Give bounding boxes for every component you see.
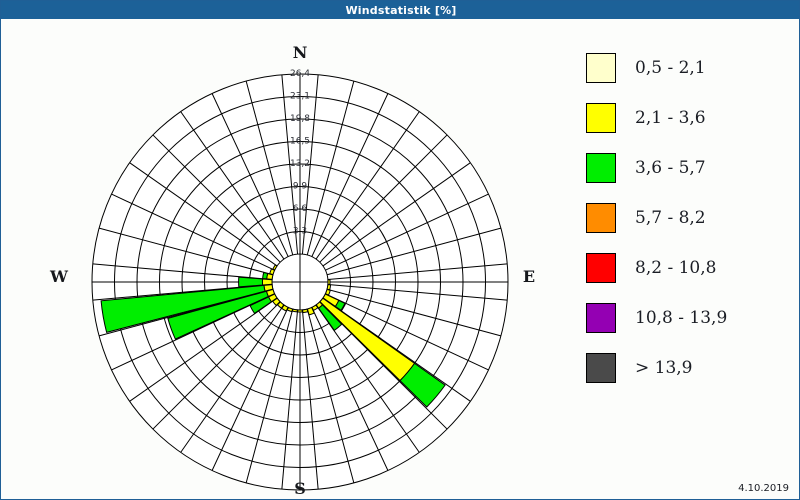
radial-tick-label: 26,4 <box>290 69 310 79</box>
radial-tick-label: 6,6 <box>293 204 308 214</box>
windrose-petal-segment <box>263 273 268 279</box>
legend-item: > 13,9 <box>586 343 796 393</box>
radial-tick-label: 19,8 <box>290 114 310 124</box>
windrose-petal-segment <box>298 310 303 312</box>
legend-label: 5,7 - 8,2 <box>635 208 706 228</box>
windrose-svg: 3,36,69,913,216,519,823,126,4 <box>1 19 571 500</box>
window-title: Windstatistik [%] <box>345 4 456 17</box>
legend-label: 0,5 - 2,1 <box>635 58 706 78</box>
legend-color-swatch <box>586 353 616 383</box>
legend-color-swatch <box>586 53 616 83</box>
window-titlebar: Windstatistik [%] <box>1 1 800 19</box>
legend-color-swatch <box>586 203 616 233</box>
radial-tick-label: 13,2 <box>290 159 310 169</box>
speed-legend: 0,5 - 2,12,1 - 3,63,6 - 5,75,7 - 8,28,2 … <box>586 43 796 393</box>
compass-label-west: W <box>39 267 79 286</box>
legend-label: 8,2 - 10,8 <box>635 258 716 278</box>
windrose-chart: 3,36,69,913,216,519,823,126,4 N S W E <box>1 19 571 500</box>
compass-label-east: E <box>509 267 549 286</box>
legend-label: 10,8 - 13,9 <box>635 308 727 328</box>
legend-color-swatch <box>586 303 616 333</box>
legend-item: 0,5 - 2,1 <box>586 43 796 93</box>
radial-tick-label: 9,9 <box>293 182 308 192</box>
compass-label-south: S <box>280 479 320 498</box>
legend-color-swatch <box>586 103 616 133</box>
legend-item: 5,7 - 8,2 <box>586 193 796 243</box>
legend-item: 3,6 - 5,7 <box>586 143 796 193</box>
windrose-petal-segment <box>239 277 263 287</box>
legend-item: 2,1 - 3,6 <box>586 93 796 143</box>
windrose-petal-segment <box>327 285 330 290</box>
windrose-petal-segment <box>262 279 272 285</box>
legend-color-swatch <box>586 253 616 283</box>
date-stamp: 4.10.2019 <box>738 483 789 494</box>
legend-label: > 13,9 <box>635 358 693 378</box>
legend-label: 3,6 - 5,7 <box>635 158 706 178</box>
legend-label: 2,1 - 3,6 <box>635 108 706 128</box>
window-content: 3,36,69,913,216,519,823,126,4 N S W E 0,… <box>1 19 800 500</box>
windrose-window: Windstatistik [%] 3,36,69,913,216,519,82… <box>0 0 800 500</box>
compass-label-north: N <box>280 43 320 62</box>
legend-item: 8,2 - 10,8 <box>586 243 796 293</box>
radial-tick-label: 16,5 <box>290 137 310 147</box>
windrose-petal-segment <box>328 280 330 285</box>
radial-tick-label: 23,1 <box>290 92 310 102</box>
windrose-petal-segment <box>292 309 297 312</box>
legend-item: 10,8 - 13,9 <box>586 293 796 343</box>
windrose-petal-segment <box>303 309 308 312</box>
legend-color-swatch <box>586 153 616 183</box>
radial-tick-label: 3,3 <box>293 227 307 237</box>
